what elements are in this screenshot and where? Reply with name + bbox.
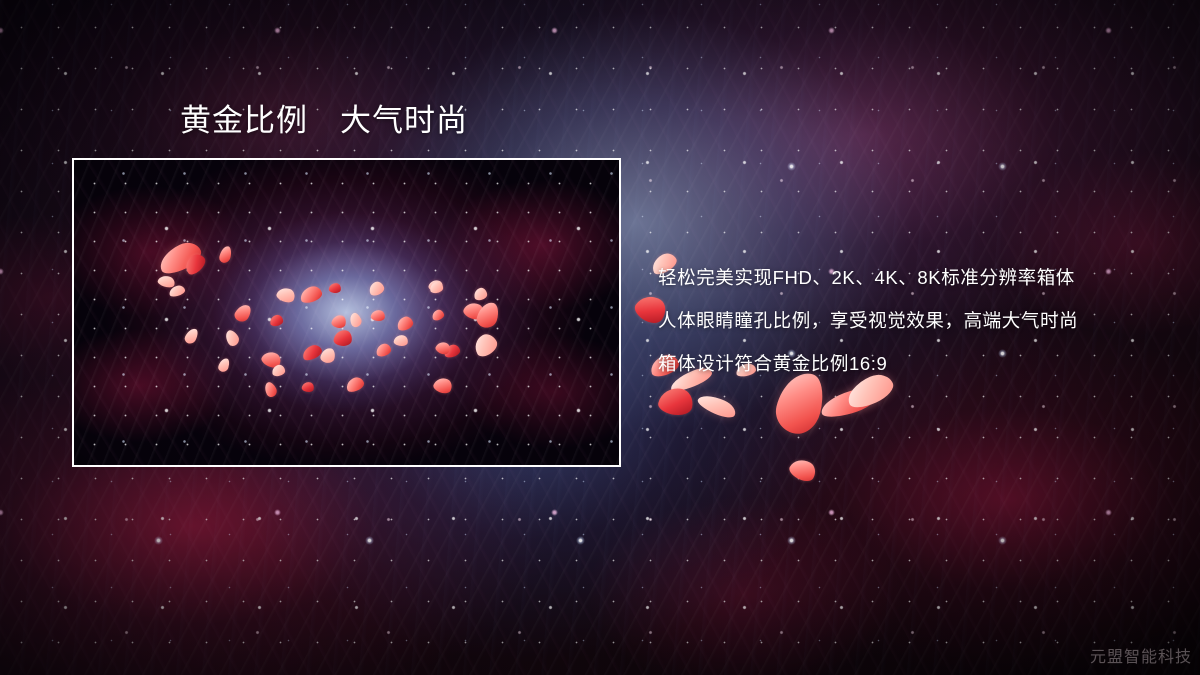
- body-line-1: 轻松完美实现FHD、2K、4K、8K标准分辨率箱体: [658, 256, 1178, 299]
- slide-body-text: 轻松完美实现FHD、2K、4K、8K标准分辨率箱体 人体眼睛瞳孔比例，享受视觉效…: [658, 256, 1178, 385]
- framed-starfield: [74, 160, 619, 465]
- petal: [657, 385, 696, 418]
- body-line-2: 人体眼睛瞳孔比例，享受视觉效果，高端大气时尚: [658, 299, 1178, 342]
- petal: [787, 455, 820, 485]
- petal: [695, 391, 738, 422]
- body-line-3: 箱体设计符合黄金比例16:9: [658, 342, 1178, 385]
- company-watermark: 元盟智能科技: [1090, 647, 1192, 669]
- presentation-slide: 黄金比例 大气时尚 轻松完美实现FHD、2K、4K、8K标准分辨率箱体 人体眼睛…: [0, 0, 1200, 675]
- framed-nebula-image[interactable]: [72, 158, 621, 467]
- slide-title: 黄金比例 大气时尚: [180, 101, 468, 141]
- framed-image-content: [74, 160, 619, 465]
